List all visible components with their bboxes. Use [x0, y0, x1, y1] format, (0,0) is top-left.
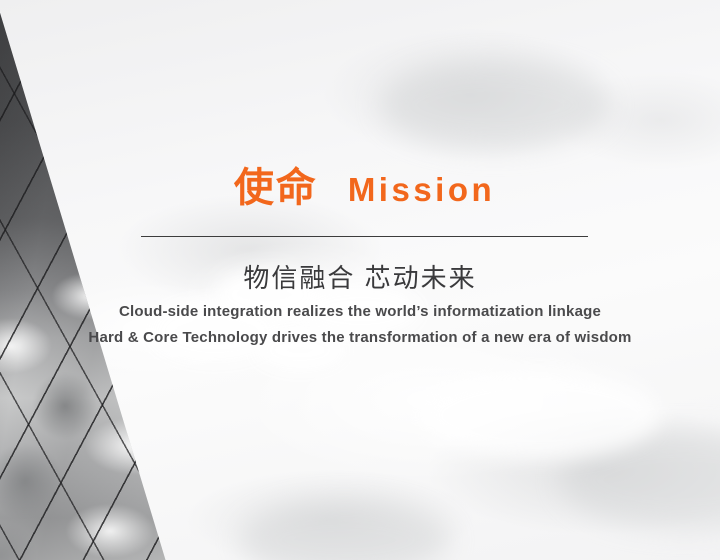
headline-divider: [141, 236, 588, 237]
tagline-line-1: Cloud-side integration realizes the worl…: [0, 303, 720, 320]
banner-content: 使命 Mission 物信融合 芯动未来 Cloud-side integrat…: [0, 0, 720, 560]
headline-chinese: 使命: [234, 168, 318, 208]
headline-english: Mission: [348, 173, 495, 206]
subtitle-chinese: 物信融合 芯动未来: [0, 258, 720, 295]
headline: 使命 Mission: [141, 168, 588, 208]
mission-banner: 使命 Mission 物信融合 芯动未来 Cloud-side integrat…: [0, 0, 720, 560]
tagline-line-2: Hard & Core Technology drives the transf…: [0, 329, 720, 346]
